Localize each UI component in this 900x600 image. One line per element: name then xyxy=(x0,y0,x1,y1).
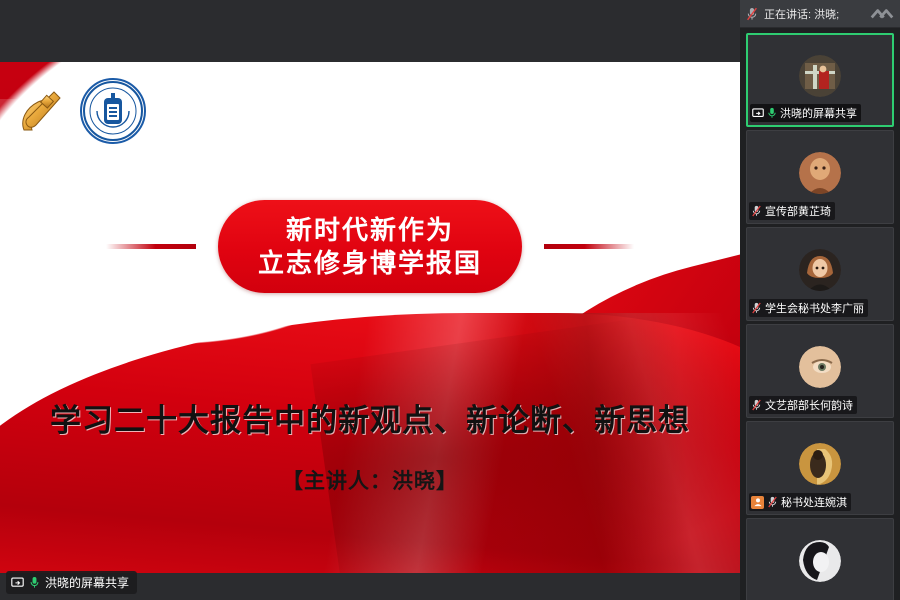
slide-red-silk-bottom-decoration xyxy=(0,313,740,573)
avatar xyxy=(799,152,841,194)
avatar xyxy=(799,249,841,291)
screen-share-indicator-label: 洪晓的屏幕共享 xyxy=(45,574,129,591)
screen-share-indicator: 洪晓的屏幕共享 xyxy=(6,571,137,594)
participant-tile[interactable]: 文艺部部长何韵诗 xyxy=(746,324,894,418)
avatar xyxy=(799,346,841,388)
participant-name: 洪晓的屏幕共享 xyxy=(780,105,857,121)
slide-theme-badge: 新时代新作为 立志修身博学报国 xyxy=(218,200,522,293)
participant-label: 秘书处连婉淇 xyxy=(749,493,851,511)
participant-name: 文艺部部长何韵诗 xyxy=(765,397,853,413)
participant-panel: 正在讲话: 洪晓; xyxy=(740,0,900,600)
microphone-muted-icon xyxy=(746,7,758,21)
chevron-collapse-icon[interactable] xyxy=(870,7,894,21)
avatar xyxy=(799,443,841,485)
slide-logos xyxy=(10,78,146,144)
badge-line-2: 立志修身博学报国 xyxy=(258,247,482,280)
participant-label: 宣传部黄芷琦 xyxy=(749,202,835,220)
microphone-muted-icon xyxy=(751,399,762,411)
participant-tile[interactable]: 秘书处连婉淇 xyxy=(746,421,894,515)
decorative-rule-right xyxy=(544,244,634,249)
decorative-rule-left xyxy=(106,244,196,249)
slide-badge-row: 新时代新作为 立志修身博学报国 xyxy=(0,200,740,293)
slide-presenter: 【主讲人：洪晓】 xyxy=(0,465,740,495)
university-seal-icon xyxy=(80,78,146,144)
participant-label: 学生会秘书处李广丽 xyxy=(749,299,868,317)
participant-label: 洪晓的屏幕共享 xyxy=(750,104,861,122)
screen-share-icon xyxy=(752,107,764,119)
participant-label: 文艺部部长何韵诗 xyxy=(749,396,857,414)
microphone-muted-icon xyxy=(767,496,778,508)
host-person-icon xyxy=(751,496,764,509)
participant-tile-list[interactable]: 洪晓的屏幕共享 xyxy=(740,28,900,600)
shared-screen-stage[interactable]: 新时代新作为 立志修身博学报国 学习二十大报告中的新观点、新论断、新思想 【主讲… xyxy=(0,0,740,600)
participant-name: 宣传部黄芷琦 xyxy=(765,203,831,219)
microphone-on-icon xyxy=(29,576,40,589)
participant-tile[interactable]: 洪晓的屏幕共享 xyxy=(746,33,894,127)
slide-main-title: 学习二十大报告中的新观点、新论断、新思想 xyxy=(0,395,740,440)
speaking-now-bar: 正在讲话: 洪晓; xyxy=(740,0,900,28)
microphone-muted-icon xyxy=(751,205,762,217)
participant-tile[interactable] xyxy=(746,518,894,600)
avatar xyxy=(799,540,841,582)
participant-name: 秘书处连婉淇 xyxy=(781,494,847,510)
participant-tile[interactable]: 宣传部黄芷琦 xyxy=(746,130,894,224)
presentation-slide: 新时代新作为 立志修身博学报国 学习二十大报告中的新观点、新论断、新思想 【主讲… xyxy=(0,62,740,573)
microphone-on-icon xyxy=(767,107,777,119)
badge-line-1: 新时代新作为 xyxy=(258,214,482,247)
avatar xyxy=(799,55,841,97)
speaking-now-label: 正在讲话: 洪晓; xyxy=(764,6,864,22)
microphone-muted-icon xyxy=(751,302,762,314)
participant-tile[interactable]: 学生会秘书处李广丽 xyxy=(746,227,894,321)
meeting-window: 新时代新作为 立志修身博学报国 学习二十大报告中的新观点、新论断、新思想 【主讲… xyxy=(0,0,900,600)
participant-name: 学生会秘书处李广丽 xyxy=(765,300,864,316)
screen-share-icon xyxy=(11,576,24,589)
party-hammer-sickle-emblem-icon xyxy=(10,80,72,142)
